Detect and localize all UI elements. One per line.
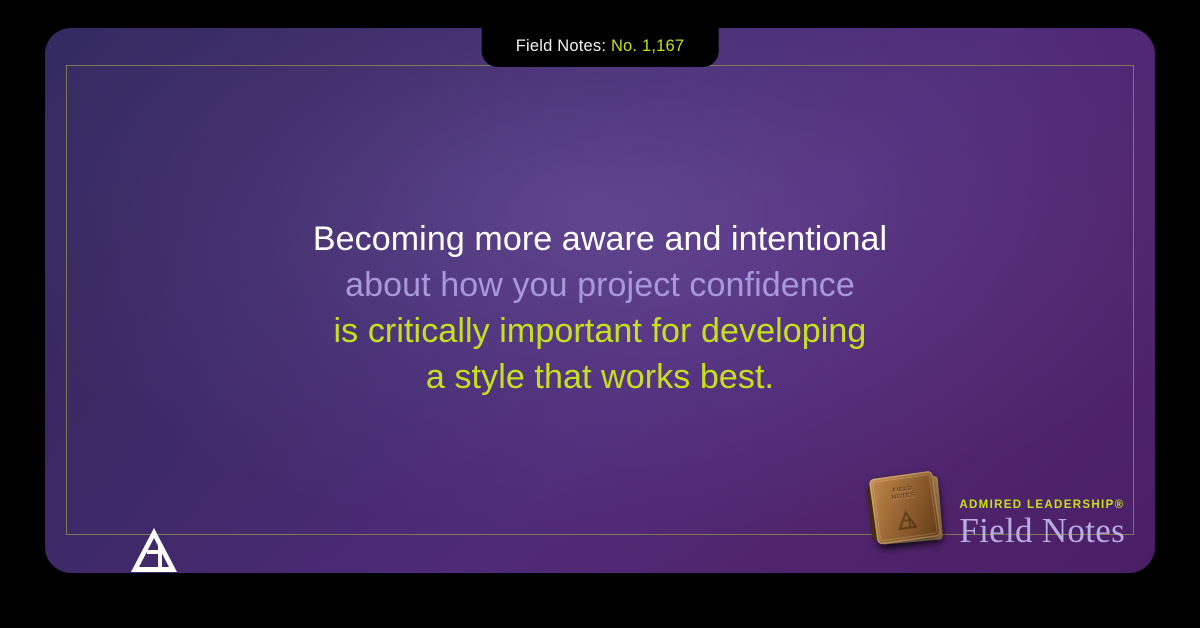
brand-field-notes: Field Notes (959, 512, 1125, 549)
field-notes-logo-lockup: FIELD NOTES ADMIRED LEADERSHIP® Field No… (867, 465, 1125, 553)
field-notes-number-badge: Field Notes: No. 1,167 (482, 28, 719, 67)
notebook-illustration: FIELD NOTES (862, 459, 959, 554)
notebook-triangle-icon (895, 507, 920, 532)
quote-card: Becoming more aware and intentional abou… (45, 28, 1155, 573)
brand-wordmark: ADMIRED LEADERSHIP® Field Notes (959, 499, 1125, 553)
quote-line-4: a style that works best. (45, 354, 1155, 400)
quote-text-block: Becoming more aware and intentional abou… (45, 216, 1155, 400)
slide-canvas: Becoming more aware and intentional abou… (0, 0, 1200, 628)
quote-line-3: is critically important for developing (45, 308, 1155, 354)
notebook-cover: FIELD NOTES (869, 471, 942, 545)
quote-line-2: about how you project confidence (45, 262, 1155, 308)
badge-label: Field Notes: (516, 37, 606, 55)
admired-leadership-triangle-icon (128, 524, 180, 573)
brand-admired-leadership: ADMIRED LEADERSHIP® (959, 499, 1125, 511)
notebook-text-line-1: FIELD (871, 482, 935, 498)
notebook-embossed-text: FIELD NOTES (871, 482, 936, 505)
quote-line-1: Becoming more aware and intentional (45, 216, 1155, 262)
badge-number: No. 1,167 (611, 37, 684, 55)
notebook-text-line-2: NOTES (872, 489, 936, 505)
